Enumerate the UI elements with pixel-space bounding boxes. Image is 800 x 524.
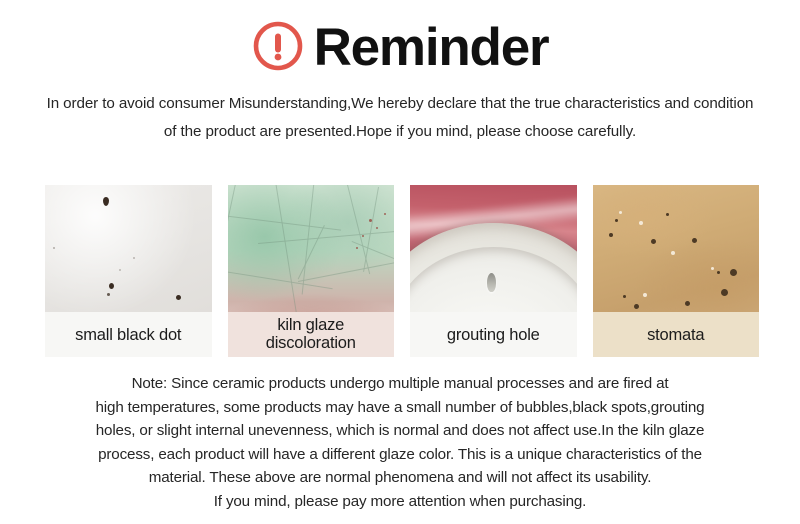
subtitle-line-1: In order to avoid consumer Misunderstand… xyxy=(24,90,776,118)
defect-card-kiln-glaze-discoloration[interactable]: kiln glaze discoloration xyxy=(228,185,395,357)
note-line-2: high temperatures, some products may hav… xyxy=(24,396,776,420)
reminder-page: Reminder In order to avoid consumer Misu… xyxy=(0,0,800,524)
subtitle-line-2: of the product are presented.Hope if you… xyxy=(24,118,776,146)
defect-card-stomata[interactable]: stomata xyxy=(593,185,760,357)
defect-card-list: small black dot xyxy=(45,185,759,357)
defect-card-caption: small black dot xyxy=(45,312,212,357)
note-line-3: holes, or slight internal unevenness, wh… xyxy=(24,419,776,443)
defect-card-grouting-hole[interactable]: grouting hole xyxy=(410,185,577,357)
subtitle: In order to avoid consumer Misunderstand… xyxy=(24,90,776,146)
page-title: Reminder xyxy=(314,21,549,74)
defect-card-caption: stomata xyxy=(593,312,760,357)
defect-card-caption-line-2: discoloration xyxy=(266,335,356,353)
note-line-5: material. These above are normal phenome… xyxy=(24,466,776,490)
page-header: Reminder xyxy=(0,0,800,66)
defect-card-small-black-dot[interactable]: small black dot xyxy=(45,185,212,357)
note-line-1: Note: Since ceramic products undergo mul… xyxy=(24,372,776,396)
exclamation-circle-icon xyxy=(252,20,304,72)
defect-card-caption-line-1: kiln glaze xyxy=(266,317,356,335)
grouting-hole-mark xyxy=(487,273,496,292)
note-line-4: process, each product will have a differ… xyxy=(24,443,776,467)
defect-card-caption: kiln glaze discoloration xyxy=(228,312,395,357)
note-line-6: If you mind, please pay more attention w… xyxy=(24,490,776,514)
defect-card-caption: grouting hole xyxy=(410,312,577,357)
note-paragraph: Note: Since ceramic products undergo mul… xyxy=(24,372,776,513)
